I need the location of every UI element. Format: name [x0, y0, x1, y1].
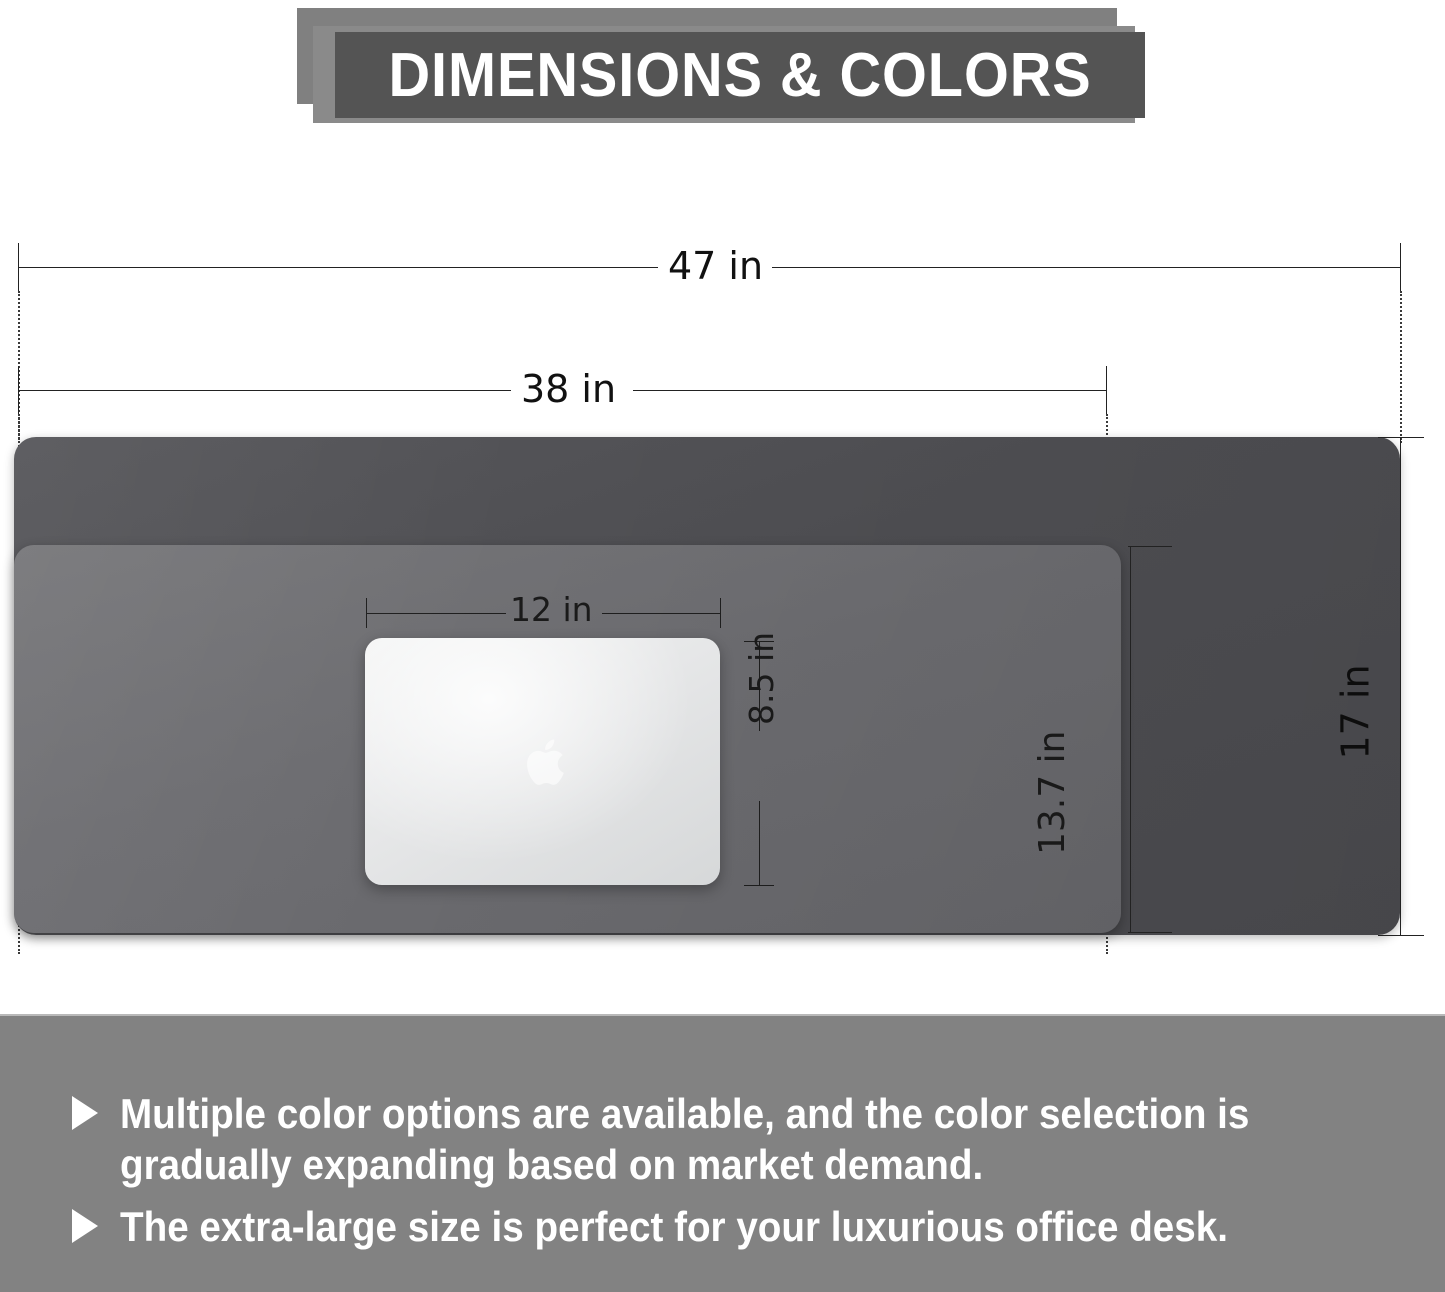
- dim-17-bottom-tick: [1378, 935, 1424, 936]
- dim-47-line-right: [772, 267, 1400, 268]
- dim-85-bottom-tick: [744, 885, 774, 886]
- dim-137-line: [1130, 546, 1131, 932]
- feature-bullet-2: The extra-large size is perfect for your…: [72, 1201, 1392, 1252]
- banner-frame-layer: DIMENSIONS & COLORS: [313, 26, 1135, 123]
- dim-137-top-tick: [1128, 546, 1172, 547]
- dim-85-line-bottom: [759, 801, 760, 885]
- banner-inner-box: DIMENSIONS & COLORS: [335, 32, 1145, 118]
- dim-85-top-tick: [744, 641, 774, 642]
- feature-bullet-2-text: The extra-large size is perfect for your…: [120, 1201, 1228, 1252]
- dim-47-ext-right: [1400, 291, 1402, 443]
- dim-47-right-tick: [1400, 243, 1401, 291]
- dim-17-label: 17 in: [1334, 664, 1378, 759]
- product-infographic: DIMENSIONS & COLORS 47 in 38 in 12 in: [0, 0, 1445, 1292]
- feature-bullet-1: Multiple color options are available, an…: [72, 1088, 1392, 1190]
- dim-38-line-right: [633, 390, 1106, 391]
- dim-38-line-left: [18, 390, 511, 391]
- laptop-reference: [365, 638, 720, 885]
- dim-38-label: 38 in: [511, 367, 626, 411]
- apple-logo-icon: [520, 734, 566, 790]
- dim-47-label: 47 in: [658, 244, 773, 288]
- dim-137-bottom-tick: [1128, 932, 1172, 933]
- title-banner: DIMENSIONS & COLORS: [297, 8, 1137, 124]
- dim-17-top-tick: [1378, 437, 1424, 438]
- dim-137-label: 13.7 in: [1032, 723, 1073, 863]
- dim-47-line-left: [18, 267, 658, 268]
- triangle-bullet-icon: [72, 1209, 98, 1243]
- dim-85-label: 8.5 in: [742, 624, 781, 733]
- dim-17-line: [1400, 437, 1401, 935]
- dim-12-left-tick: [366, 598, 367, 628]
- triangle-bullet-icon: [72, 1096, 98, 1130]
- features-panel: Multiple color options are available, an…: [0, 1014, 1445, 1292]
- page-title: DIMENSIONS & COLORS: [388, 40, 1091, 111]
- dim-12-label: 12 in: [502, 590, 601, 629]
- dim-38-right-tick: [1106, 366, 1107, 414]
- dim-12-line-left: [366, 613, 506, 614]
- dim-85-line-top: [759, 641, 760, 731]
- feature-bullet-1-text: Multiple color options are available, an…: [120, 1088, 1290, 1190]
- dim-12-right-tick: [720, 598, 721, 628]
- dim-12-line-right: [602, 613, 720, 614]
